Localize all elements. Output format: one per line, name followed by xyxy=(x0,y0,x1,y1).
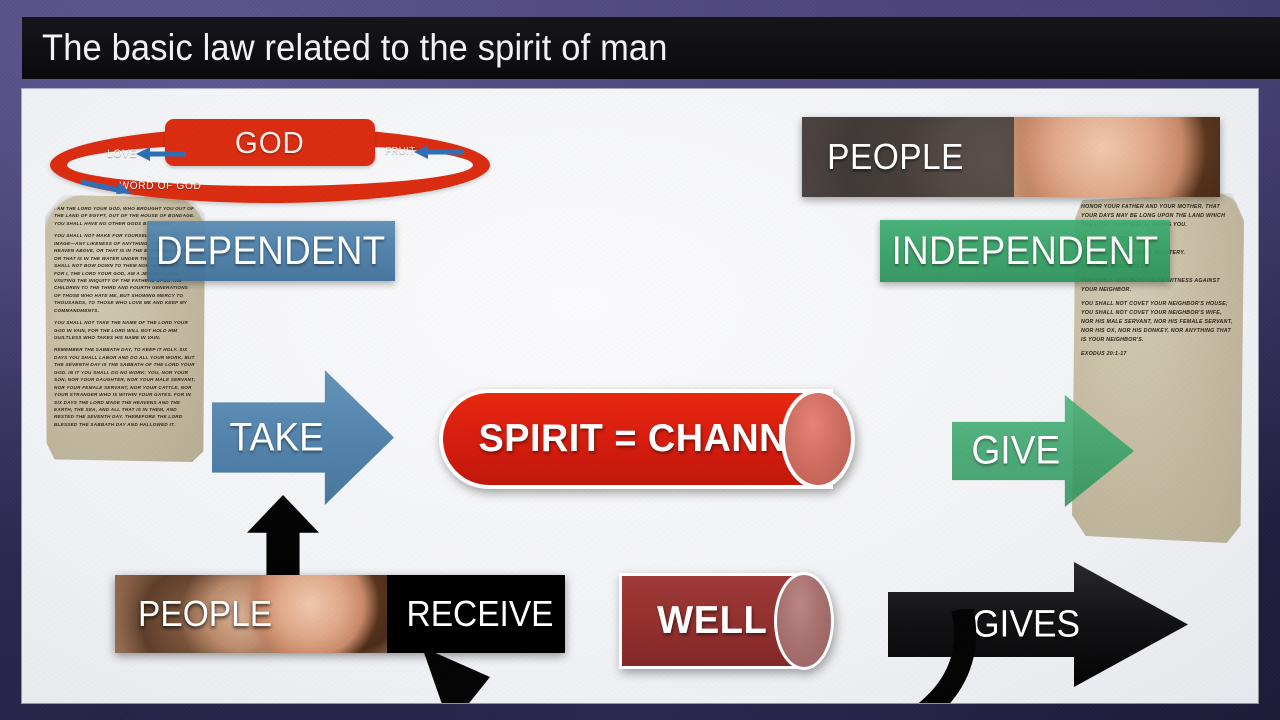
god-pill-shape: GOD xyxy=(165,119,375,166)
take-arrow: TAKE xyxy=(212,370,394,505)
spirit-cylinder-body: SPIRIT = CHANNEL xyxy=(439,389,833,489)
slide-canvas: I am the Lord your God, who brought you … xyxy=(22,89,1258,703)
people-label-bottom: PEOPLE xyxy=(138,593,272,635)
give-label: GIVE xyxy=(971,429,1060,474)
god-cycle-diagram: GOD LOVE FRUIT WORD OF GOD xyxy=(50,119,490,214)
word-of-god-arrow-right-icon xyxy=(78,175,133,195)
dependent-label: DEPENDENT xyxy=(156,229,385,274)
god-label: GOD xyxy=(235,125,305,161)
take-label: TAKE xyxy=(230,415,324,460)
independent-label: INDEPENDENT xyxy=(892,229,1159,274)
fruit-arrow-left-icon xyxy=(412,143,467,161)
spirit-channel-cylinder: SPIRIT = CHANNEL xyxy=(439,389,859,489)
people-label-top: PEOPLE xyxy=(827,136,964,178)
spirit-cylinder-cap xyxy=(781,389,855,489)
love-arrow-left-icon xyxy=(134,145,189,163)
people-photo-banner-top: PEOPLE xyxy=(802,117,1220,197)
tablet-line: You shall not take the name of the Lord … xyxy=(54,319,196,341)
dependent-banner: DEPENDENT xyxy=(147,221,395,281)
tablet-line: Remember the Sabbath day, to keep it hol… xyxy=(54,346,196,428)
feedback-curved-arrow-icon xyxy=(402,609,1022,703)
tablet-citation: EXODUS 20:1-17 xyxy=(1081,350,1235,359)
page-title: The basic law related to the spirit of m… xyxy=(42,27,668,69)
up-arrow-icon xyxy=(247,495,319,577)
tablet-line: You shall not covet your neighbor's hous… xyxy=(1081,300,1235,345)
independent-banner: INDEPENDENT xyxy=(880,220,1170,282)
slide-title-bar: The basic law related to the spirit of m… xyxy=(22,17,1280,79)
love-label: LOVE xyxy=(107,148,137,160)
slide: The basic law related to the spirit of m… xyxy=(22,17,1258,703)
